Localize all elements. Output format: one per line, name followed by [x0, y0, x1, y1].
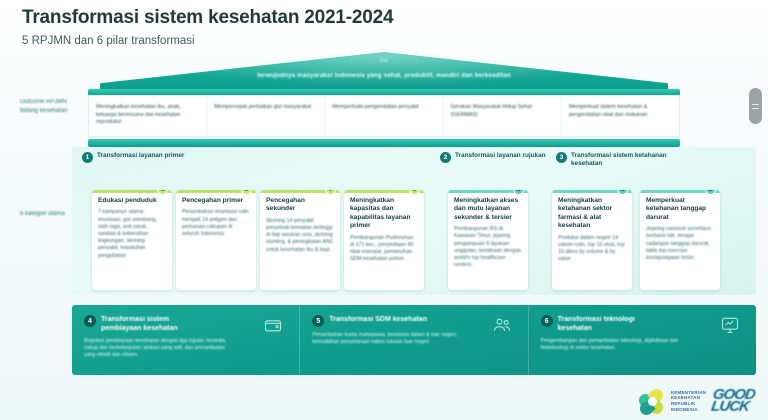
page-subtitle: 5 RPJMN dan 6 pilar transformasi: [22, 34, 393, 48]
bottom-pillars: 4 Transformasi sistem pembiayaan kesehat…: [72, 305, 756, 375]
group-number: 1: [82, 152, 93, 163]
card-body: Skrining 14 penyakit penyebab kematian t…: [266, 218, 334, 254]
bottom-pillar-head: 4 Transformasi sistem pembiayaan kesehat…: [84, 315, 287, 333]
temple-roof: visi terwujudnya masyarakat Indonesia ya…: [0, 52, 768, 98]
group-heading-1: 1 Transformasi layanan primer: [82, 152, 193, 163]
pillar-number: 5: [312, 315, 324, 327]
card-badge: a: [617, 190, 628, 195]
header: Transformasi sistem kesehatan 2021-2024 …: [22, 6, 393, 48]
watermark-line-2: LUCK: [710, 401, 754, 413]
visi-label: visi: [100, 58, 668, 64]
card-body: Pembangunan RS di Kawasan Timur, jejarin…: [454, 226, 522, 269]
card-badge: c: [325, 190, 336, 195]
pillar-card[interactable]: b Memperkuat ketahanan tanggap darurat J…: [640, 190, 720, 290]
pillar-body: Pengembangan dan pemanfaatan teknologi, …: [541, 338, 689, 352]
pillar-number: 6: [541, 315, 553, 327]
card-body: Jejaring nasional surveilans berbasis la…: [646, 226, 714, 262]
card-title: Meningkatkan ketahanan sektor farmasi & …: [558, 197, 626, 231]
group-title: Transformasi sistem ketahanan kesehatan: [571, 152, 667, 168]
card-badge: d: [409, 190, 420, 195]
watermark-text: GOOD LUCK: [710, 389, 755, 413]
bottom-pillar-4[interactable]: 4 Transformasi sistem pembiayaan kesehat…: [72, 305, 300, 375]
outcome-column: Meningkatkan kesehatan ibu, anak, keluar…: [89, 96, 207, 136]
pillar-card[interactable]: c Pencegahan sekunder Skrining 14 penyak…: [260, 190, 340, 290]
infographic-canvas: Transformasi sistem kesehatan 2021-2024 …: [0, 0, 768, 420]
footer-logo: KEMENTERIAN KESEHATAN REPUBLIK INDONESIA…: [639, 388, 754, 414]
card-title: Pencegahan sekunder: [266, 197, 334, 214]
card-title: Pencegahan primer: [182, 197, 250, 205]
logo-center: [648, 397, 657, 406]
card-badge: b: [705, 190, 716, 195]
group-number: 3: [556, 152, 567, 163]
card-badge: b: [241, 190, 252, 195]
bottom-pillar-6[interactable]: 6 Transformasi teknologi kesehatan Penge…: [529, 305, 756, 375]
group-heading-3: 3 Transformasi sistem ketahanan kesehata…: [556, 152, 667, 168]
monitor-icon: [718, 315, 742, 335]
card-badge: a: [157, 190, 168, 195]
pillar-card[interactable]: a Meningkatkan ketahanan sektor farmasi …: [552, 190, 632, 290]
kemenkes-logo-icon: [639, 388, 665, 414]
pillar-title: Transformasi sistem pembiayaan kesehatan: [101, 315, 211, 333]
card-body: Produksi dalam negeri 14 vaksin rutin, t…: [558, 235, 626, 264]
card-body: 7 kampanye utama: imunisasi, gizi seimba…: [98, 209, 166, 259]
page-title: Transformasi sistem kesehatan 2021-2024: [22, 6, 393, 30]
roof-text-layer: visi terwujudnya masyarakat Indonesia ya…: [100, 52, 668, 92]
card-title: Meningkatkan akses dan mutu layanan seku…: [454, 197, 522, 222]
pillar-card[interactable]: b Pencegahan primer Penambahan imunisasi…: [176, 190, 256, 290]
ministry-line-4: INDONESIA: [671, 407, 706, 413]
outcome-column: Memperkuat sistem kesehatan & pengendali…: [562, 96, 679, 136]
bottom-pillar-head: 6 Transformasi teknologi kesehatan: [541, 315, 744, 333]
card-title: Edukasi penduduk: [98, 197, 166, 205]
people-icon: [490, 315, 514, 335]
temple-base-bar: [88, 139, 680, 147]
pillar-title: Transformasi teknologi kesehatan: [558, 315, 668, 333]
pillar-card[interactable]: d Meningkatkan kapasitas dan kapabilitas…: [344, 190, 424, 290]
group-number: 2: [440, 152, 451, 163]
card-body: Penambahan imunisasi rutin menjadi 14 an…: [182, 209, 250, 238]
card-title: Memperkuat ketahanan tanggap darurat: [646, 197, 714, 222]
outcome-column: Memperbaiki pengendalian penyakit: [325, 96, 443, 136]
outcome-axis-label: Outcome RPJMN bidang kesehatan: [20, 98, 86, 115]
outcome-column: Gerakan Masyarakat Hidup Sehat (GERMAS): [444, 96, 562, 136]
bottom-pillar-head: 5 Transformasi SDM kesehatan: [312, 315, 515, 327]
pillar-number: 4: [84, 315, 96, 327]
pillar-body: Regulasi pembiayaan kesehatan dengan tig…: [84, 338, 232, 359]
group-heading-2: 2 Transformasi layanan rujukan: [440, 152, 551, 163]
outcome-columns: Meningkatkan kesehatan ibu, anak, keluar…: [88, 95, 680, 137]
ministry-name: KEMENTERIAN KESEHATAN REPUBLIK INDONESIA: [671, 390, 706, 412]
group-title: Transformasi layanan rujukan: [455, 152, 551, 160]
handle-line: [752, 104, 759, 105]
handle-line: [752, 108, 759, 109]
outcome-column: Mempercepat perbaikan gizi masyarakat: [207, 96, 325, 136]
card-body: Pembangunan Puskesmas di 171 kec., penye…: [350, 235, 418, 264]
card-title: Meningkatkan kapasitas dan kapabilitas l…: [350, 197, 418, 231]
bottom-pillar-5[interactable]: 5 Transformasi SDM kesehatan Penambahan …: [300, 305, 528, 375]
visi-statement: terwujudnya masyarakat Indonesia yang se…: [100, 72, 668, 79]
pillar-card[interactable]: a Meningkatkan akses dan mutu layanan se…: [448, 190, 528, 290]
pillar-title: Transformasi SDM kesehatan: [329, 315, 439, 324]
card-badge: a: [513, 190, 524, 195]
pillar-body: Penambahan kuota mahasiswa, beasiswa dal…: [312, 332, 460, 346]
pillar-card[interactable]: a Edukasi penduduk 7 kampanye utama: imu…: [92, 190, 172, 290]
group-title: Transformasi layanan primer: [97, 152, 193, 160]
resize-drag-handle[interactable]: [749, 88, 762, 124]
wallet-icon: [261, 315, 285, 335]
